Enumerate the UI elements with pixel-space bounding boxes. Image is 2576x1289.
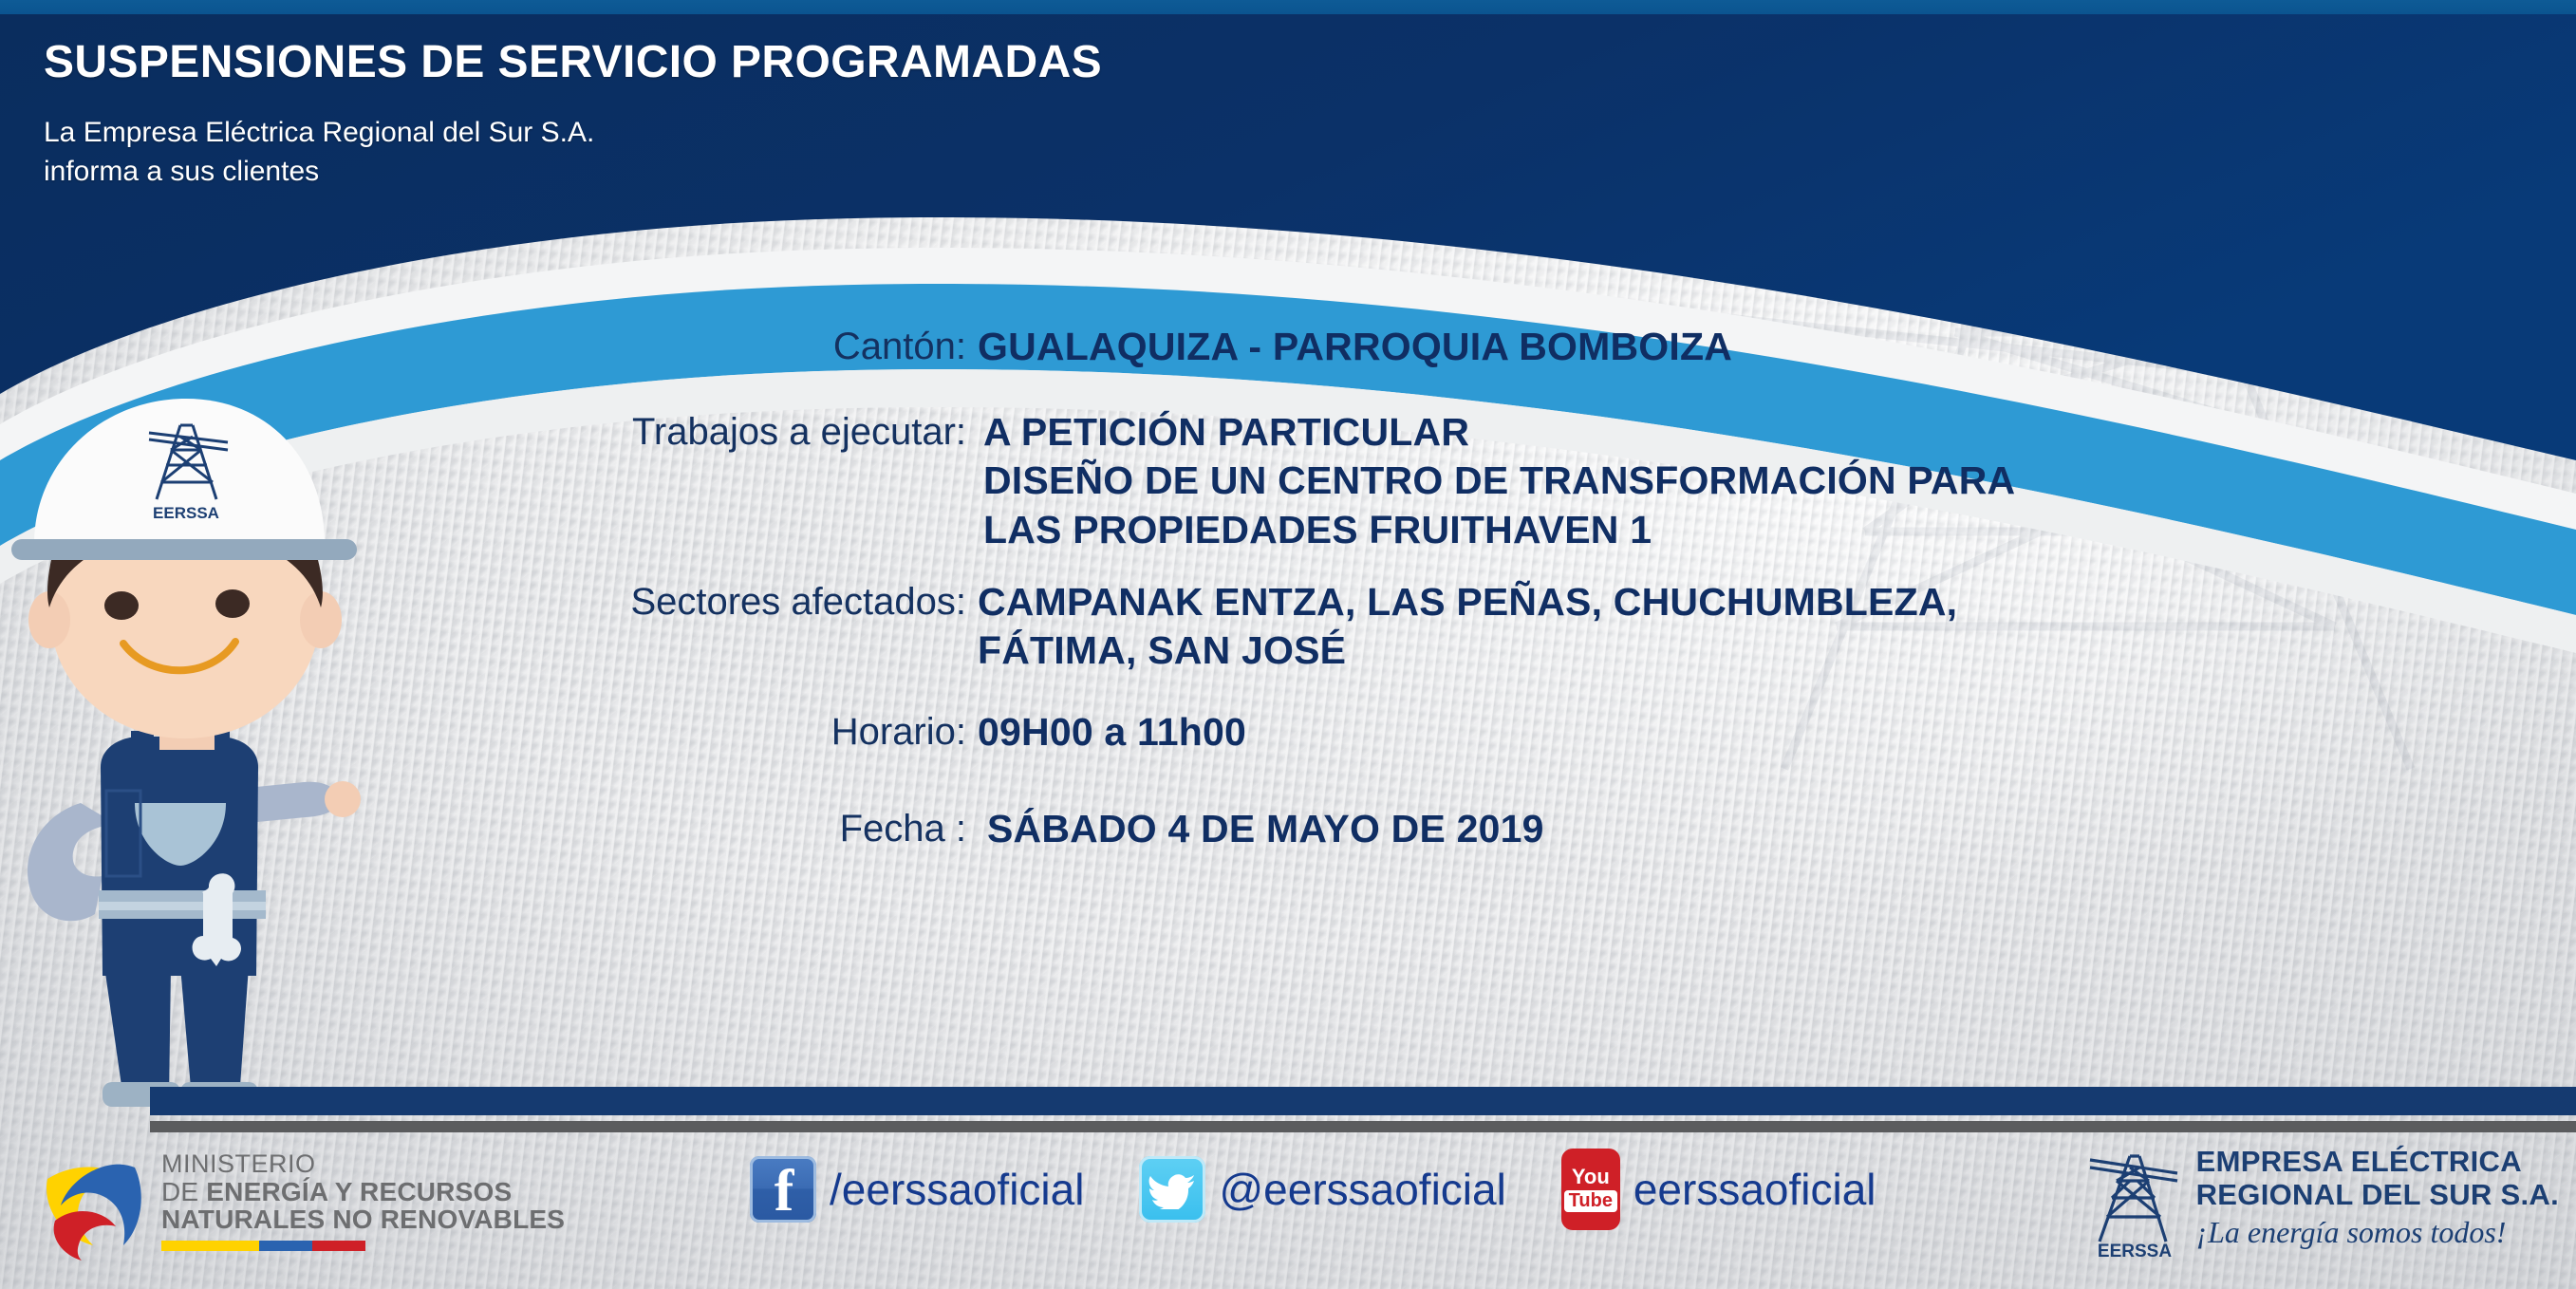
eerssa-line1: EMPRESA ELÉCTRICA [2196, 1146, 2559, 1178]
trabajos-label: Trabajos a ejecutar: [0, 408, 978, 456]
youtube-handle[interactable]: eerssaoficial [1633, 1164, 1876, 1215]
canton-value: GUALAQUIZA - PARROQUIA BOMBOIZA [978, 323, 1732, 372]
twitter-icon[interactable] [1139, 1156, 1205, 1223]
header-subtitle: La Empresa Eléctrica Regional del Sur S.… [44, 113, 1102, 191]
youtube-you-text: You [1572, 1167, 1610, 1187]
eerssa-logo: EERSSA EMPRESA ELÉCTRICA REGIONAL DEL SU… [2084, 1135, 2559, 1261]
ministerio-text: MINISTERIO DE ENERGÍA Y RECURSOS NATURAL… [161, 1150, 565, 1251]
twitter-handle[interactable]: @eerssaoficial [1219, 1164, 1505, 1215]
detail-row-sectores: Sectores afectados: CAMPANAK ENTZA, LAS … [0, 578, 2576, 676]
sectores-label: Sectores afectados: [0, 578, 978, 626]
page-title: SUSPENSIONES DE SERVICIO PROGRAMADAS [44, 36, 1102, 88]
header-text-block: SUSPENSIONES DE SERVICIO PROGRAMADAS La … [44, 36, 1102, 191]
sectores-value: CAMPANAK ENTZA, LAS PEÑAS, CHUCHUMBLEZA,… [978, 578, 1957, 676]
footer-block: MINISTERIO DE ENERGÍA Y RECURSOS NATURAL… [0, 1130, 2576, 1289]
details-block: Cantón: GUALAQUIZA - PARROQUIA BOMBOIZA … [0, 323, 2576, 857]
eerssa-mark-text: EERSSA [2098, 1242, 2172, 1261]
detail-row-trabajos: Trabajos a ejecutar: A PETICIÓN PARTICUL… [0, 408, 2576, 555]
trabajos-value: A PETICIÓN PARTICULAR DISEÑO DE UN CENTR… [978, 408, 2015, 555]
horario-value: 09H00 a 11h00 [978, 708, 1246, 757]
canton-label: Cantón: [0, 323, 978, 370]
flag-red [312, 1241, 365, 1251]
poster-root: SUSPENSIONES DE SERVICIO PROGRAMADAS La … [0, 0, 2576, 1289]
header-subtitle-line1: La Empresa Eléctrica Regional del Sur S.… [44, 113, 1102, 152]
facebook-glyph: f [775, 1162, 794, 1221]
detail-row-horario: Horario: 09H00 a 11h00 [0, 708, 2576, 757]
social-links: f /eerssaoficial @eerssaoficial You Tube… [750, 1149, 1932, 1230]
youtube-icon[interactable]: You Tube [1561, 1149, 1620, 1230]
ecuador-swoosh-icon [40, 1139, 152, 1262]
ministerio-line2: DE ENERGÍA Y RECURSOS [161, 1178, 565, 1206]
footer-separator [150, 1087, 2576, 1134]
fecha-value: SÁBADO 4 DE MAYO DE 2019 [978, 805, 1544, 854]
twitter-bird-glyph [1148, 1169, 1196, 1209]
eerssa-tower-icon: EERSSA [2084, 1135, 2185, 1261]
top-accent-strip [0, 0, 2576, 14]
flag-blue [259, 1241, 312, 1251]
detail-row-canton: Cantón: GUALAQUIZA - PARROQUIA BOMBOIZA [0, 323, 2576, 372]
ministerio-line2-bold: ENERGÍA Y RECURSOS [206, 1177, 512, 1206]
flag-yellow [161, 1241, 259, 1251]
eerssa-line2: REGIONAL DEL SUR S.A. [2196, 1179, 2559, 1211]
eerssa-slogan: ¡La energía somos todos! [2196, 1215, 2559, 1250]
separator-bar [150, 1087, 2576, 1115]
facebook-handle[interactable]: /eerssaoficial [830, 1164, 1084, 1215]
social-item-youtube[interactable]: You Tube eerssaoficial [1561, 1149, 1876, 1230]
ministerio-line2-light: DE [161, 1177, 206, 1206]
youtube-tube-text: Tube [1564, 1190, 1617, 1212]
horario-label: Horario: [0, 708, 978, 756]
fecha-label: Fecha : [0, 805, 978, 852]
ministerio-logo: MINISTERIO DE ENERGÍA Y RECURSOS NATURAL… [40, 1139, 565, 1262]
social-item-twitter[interactable]: @eerssaoficial [1139, 1156, 1505, 1223]
detail-row-fecha: Fecha : SÁBADO 4 DE MAYO DE 2019 [0, 805, 2576, 854]
eerssa-text: EMPRESA ELÉCTRICA REGIONAL DEL SUR S.A. … [2196, 1146, 2559, 1249]
ecuador-flag-bar [161, 1241, 365, 1251]
facebook-icon[interactable]: f [750, 1156, 816, 1223]
ministerio-line3: NATURALES NO RENOVABLES [161, 1205, 565, 1234]
social-item-facebook[interactable]: f /eerssaoficial [750, 1156, 1084, 1223]
ministerio-line1: MINISTERIO [161, 1150, 565, 1178]
header-subtitle-line2: informa a sus clientes [44, 152, 1102, 191]
